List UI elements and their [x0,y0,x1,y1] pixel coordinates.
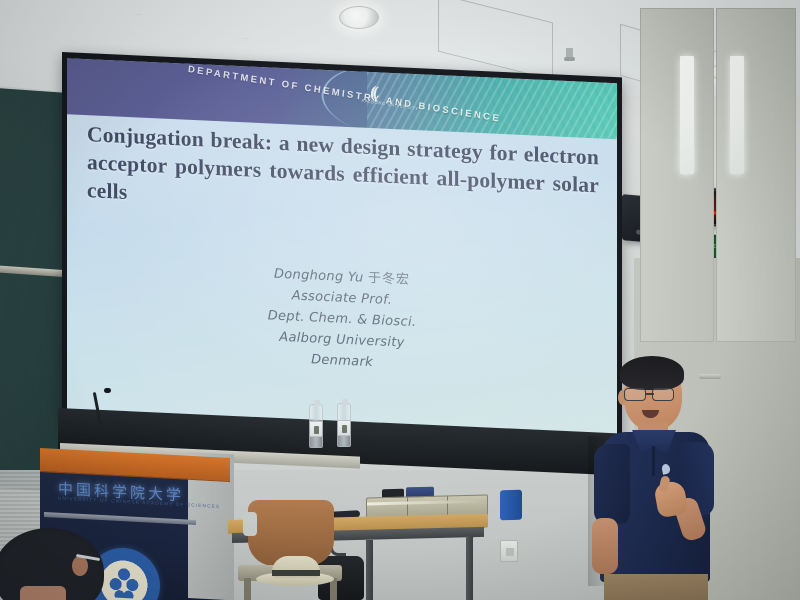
slide-title: Conjugation break: a new design strategy… [87,121,599,228]
presenter-sleeve-left [594,444,630,524]
straw-hat [256,556,334,586]
door-glass-pane [680,56,694,174]
wall-power-socket [500,540,518,562]
blue-container [500,490,522,521]
ceiling-mark: ··· [135,12,143,18]
hat-band [272,570,320,576]
author-name: Donghong Yu [274,267,364,286]
author-name-cn: 于冬宏 [368,271,410,288]
chair-notch [243,512,257,536]
projection-screen: (( AALBORG UNIVERSITY DEPARTMENT OF CHEM… [67,58,617,435]
door-right-leaf[interactable] [716,8,796,342]
presenter-trousers [604,574,708,600]
glasses-lens-left [624,388,646,401]
door-glass-pane [730,56,744,174]
slide-author-block: Donghong Yu 于冬宏 Associate Prof. Dept. Ch… [67,254,617,384]
presenter-hair [620,356,684,390]
chair-leg [244,578,251,600]
ceiling-mark: ··· [242,36,250,42]
water-bottle [337,403,351,447]
desk-leg [466,536,473,600]
desk-leg [366,540,373,600]
audience-ear [72,556,88,576]
glasses-bridge [646,393,654,395]
projection-screen-frame: (( AALBORG UNIVERSITY DEPARTMENT OF CHEM… [62,52,622,449]
ceiling-downlight [339,6,379,29]
glasses-icon [622,388,682,401]
ceiling-access-panel [438,0,553,80]
presenter [596,356,746,600]
sprinkler-head-icon [566,48,573,59]
bottle-label [310,421,322,437]
water-bottle [309,404,323,448]
lecture-hall-scene: ··· ··· ·· ·· (( AALBORG UNIVERSITY DEPA… [0,0,800,600]
polo-placket [652,446,655,476]
door-left-leaf[interactable] [640,8,714,342]
glasses-lens-right [652,388,674,401]
microphone-icon [104,388,111,393]
presenter-arm-left [592,518,618,574]
audience-neck [20,586,66,600]
bottle-label [338,420,350,436]
